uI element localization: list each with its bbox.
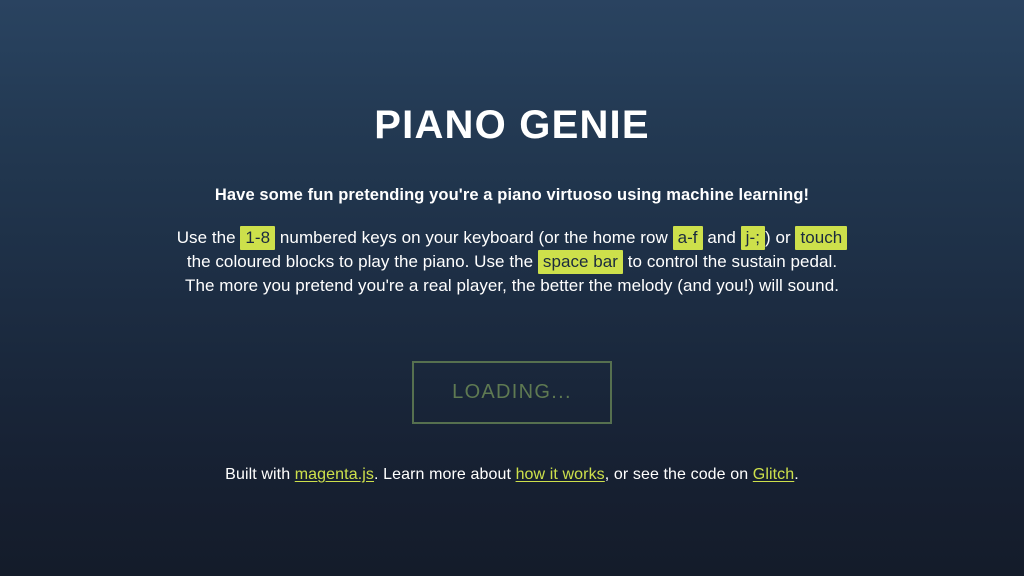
instructions-text-4: ) or — [765, 228, 795, 247]
key-hint-home-row-left: a-f — [673, 226, 703, 250]
link-glitch[interactable]: Glitch — [753, 466, 795, 483]
instructions-text-1: Use the — [177, 228, 241, 247]
key-hint-touch: touch — [795, 226, 847, 250]
cta-container: LOADING... — [0, 361, 1024, 424]
key-hint-numbers: 1-8 — [240, 226, 275, 250]
intro-copy-block: Have some fun pretending you're a piano … — [172, 184, 852, 298]
link-how-it-works[interactable]: how it works — [516, 466, 605, 483]
footer-text-middle-2: , or see the code on — [605, 466, 753, 483]
link-magenta-js[interactable]: magenta.js — [295, 466, 374, 483]
instructions-text-2: numbered keys on your keyboard (or the h… — [275, 228, 672, 247]
footer-text-suffix: . — [794, 466, 799, 483]
key-hint-space-bar: space bar — [538, 250, 623, 274]
loading-button[interactable]: LOADING... — [412, 361, 612, 424]
key-hint-home-row-right: j-; — [741, 226, 765, 250]
footer-text-middle-1: . Learn more about — [374, 466, 516, 483]
piano-genie-app: PIANO GENIE Have some fun pretending you… — [0, 0, 1024, 576]
instructions-text-3: and — [703, 228, 741, 247]
footer-text-prefix: Built with — [225, 466, 295, 483]
instructions-text-5: the coloured blocks to play the piano. U… — [187, 252, 538, 271]
page-title: PIANO GENIE — [0, 101, 1024, 149]
footer-credits: Built with magenta.js. Learn more about … — [0, 466, 1024, 484]
instructions-paragraph: Use the 1-8 numbered keys on your keyboa… — [172, 226, 852, 298]
tagline: Have some fun pretending you're a piano … — [172, 184, 852, 208]
